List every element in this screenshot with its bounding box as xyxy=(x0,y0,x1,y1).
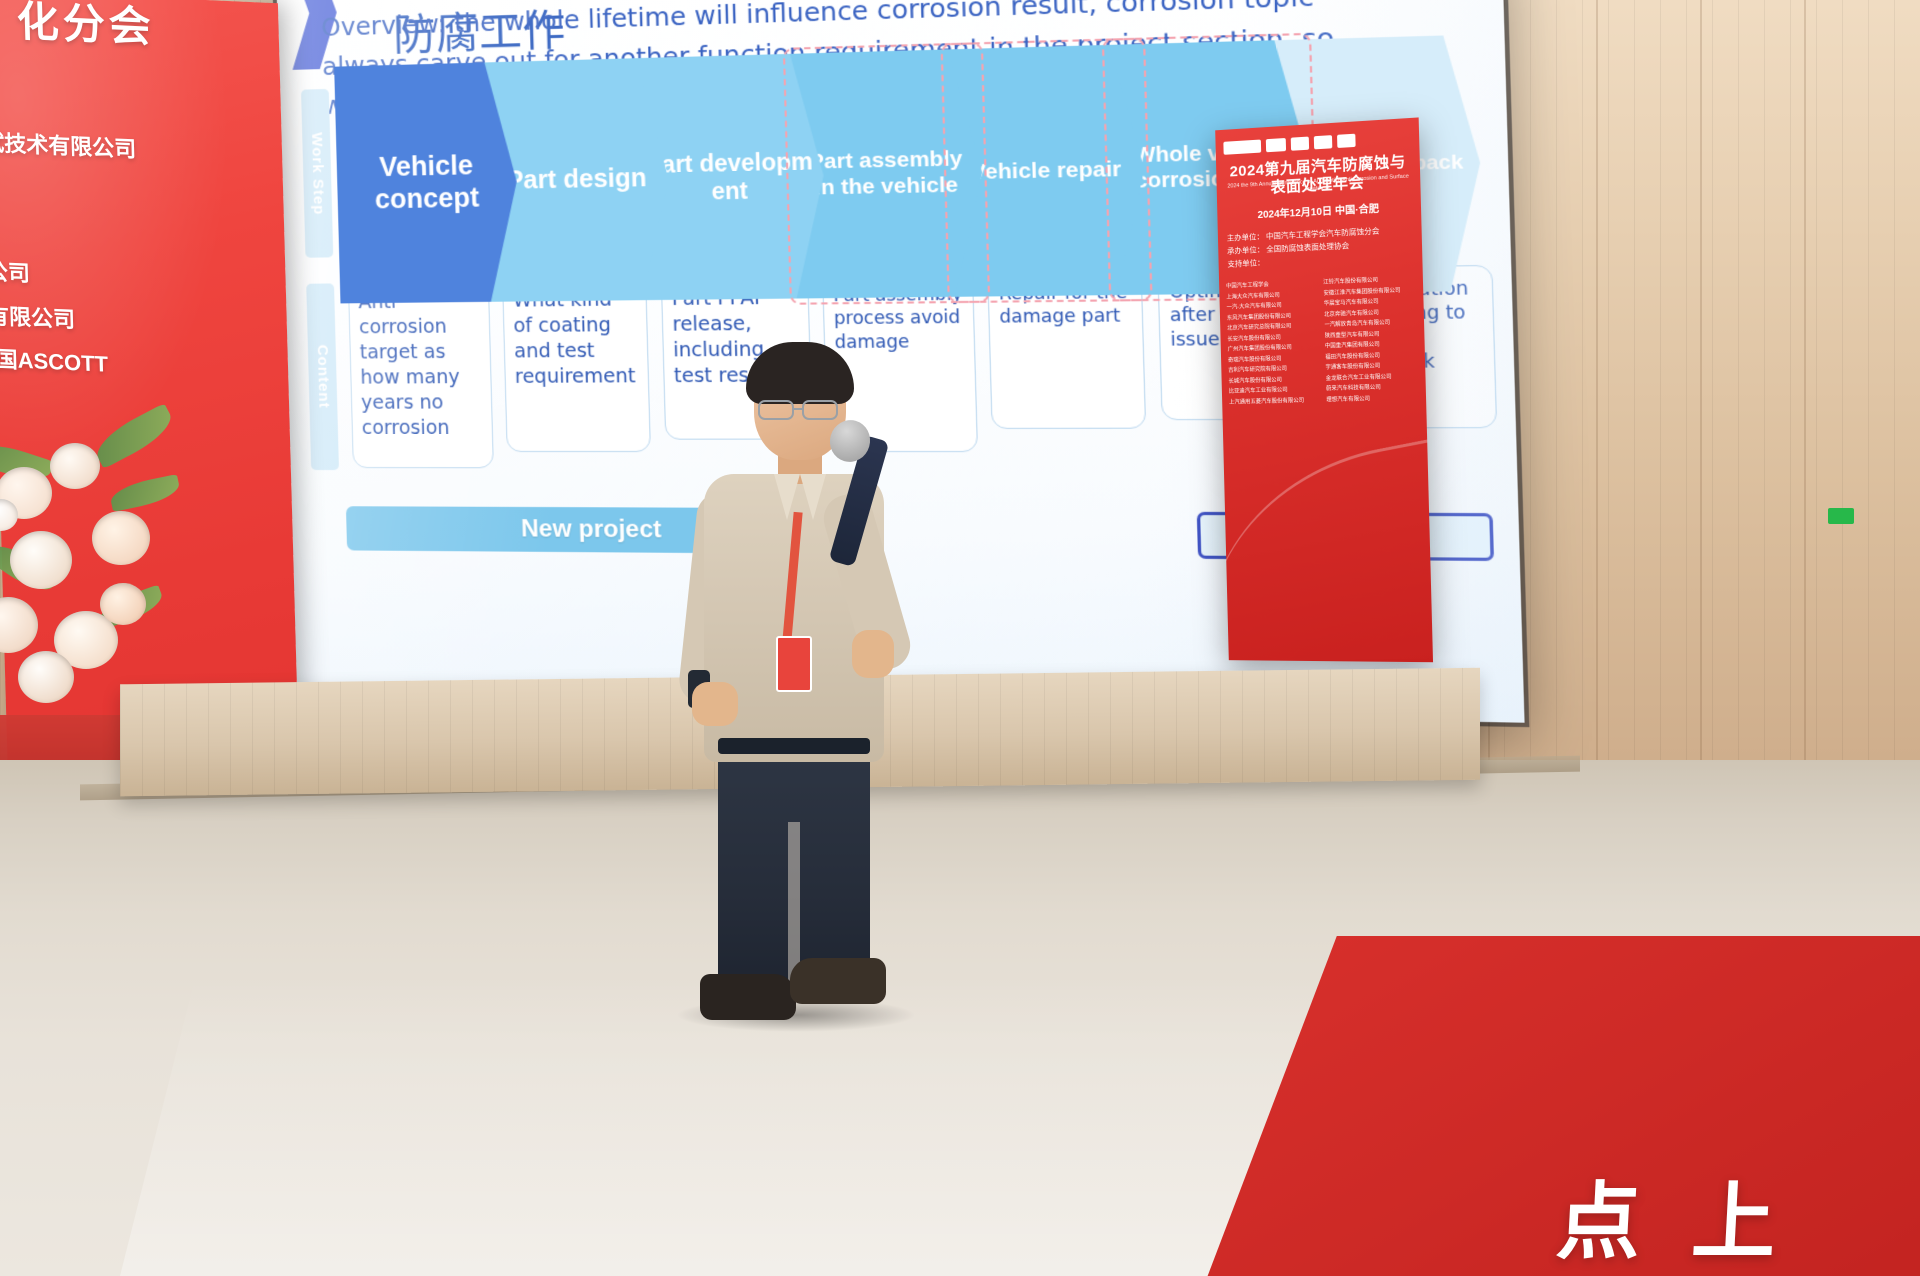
work-step-label: Vehicle concept xyxy=(336,149,517,217)
banner-right-organizers: 主办单位： 中国汽车工程学会汽车防腐蚀分会承办单位： 全国防腐蚀表面处理协会支持… xyxy=(1227,223,1414,272)
banner-right-sponsor-columns: 中国汽车工程学会上海大众汽车有限公司一汽-大众汽车有限公司东风汽车集团股份有限公… xyxy=(1226,274,1419,408)
photo-scene: ...during the whole vehicle lifetime 周期内… xyxy=(0,0,1920,1276)
speaker-person xyxy=(666,352,916,1052)
banner-right-date: 2024年12月10日 中国·合肥 xyxy=(1223,198,1415,223)
content-box: Anti-corrosion target as how many years … xyxy=(348,277,494,468)
banner-left-sponsor-item: 限公司 xyxy=(0,160,296,221)
banner-left-sponsor-item: 新材料测试技术有限公司 xyxy=(0,117,295,178)
glasses-icon xyxy=(802,400,838,420)
content-box: What kind of coating and test requiremen… xyxy=(502,276,651,453)
speaker-hair xyxy=(746,342,854,404)
speaker-belt xyxy=(718,738,870,754)
banner-left-sponsor-item: 海）有限公司 xyxy=(0,247,298,308)
row-label-content: Content xyxy=(306,283,339,470)
banner-left-sponsor-item: 限公司-英国ASCOTT xyxy=(0,333,301,394)
banner-left-sponsor-item: （上海）有限公司 xyxy=(0,290,300,351)
speaker-shoe-left xyxy=(700,974,796,1020)
glasses-bridge-icon xyxy=(794,408,804,410)
speaker-hand-left xyxy=(692,682,738,726)
conference-banner-right: 2024第九届汽车防腐蚀与表面处理年会 2024 the 9th Annual … xyxy=(1215,117,1433,662)
banner-left-heading: 化分会 xyxy=(16,0,156,55)
row-label-work-step: Work Step xyxy=(301,89,333,258)
banner-right-swoosh-decor xyxy=(1215,431,1433,663)
work-step-chevron: Vehicle concept xyxy=(334,62,520,304)
carpet-text: 点 上 xyxy=(1553,1155,1793,1276)
banner-left-sponsor-item: 限公司 xyxy=(0,74,294,135)
banner-right-logos xyxy=(1223,126,1411,158)
speaker-hand-right xyxy=(852,630,894,678)
speaker-shoe-right xyxy=(790,958,886,1004)
exit-sign-icon xyxy=(1828,508,1854,524)
banner-right-sponsor-item: 上汽通用五菱汽车股份有限公司 xyxy=(1229,395,1319,408)
banner-right-sponsor-item: 理想汽车有限公司 xyxy=(1326,393,1419,406)
work-step-label: Part design xyxy=(500,164,653,197)
banner-right-col-left: 中国汽车工程学会上海大众汽车有限公司一汽-大众汽车有限公司东风汽车集团股份有限公… xyxy=(1226,278,1319,408)
speaker-badge xyxy=(776,636,812,692)
banner-right-col-right: 江铃汽车股份有限公司安徽江淮汽车集团股份有限公司华晨宝马汽车有限公司北京奔驰汽车… xyxy=(1323,274,1419,406)
glasses-icon xyxy=(758,400,794,420)
banner-left-sponsor-item: 有限公司 xyxy=(0,203,297,264)
